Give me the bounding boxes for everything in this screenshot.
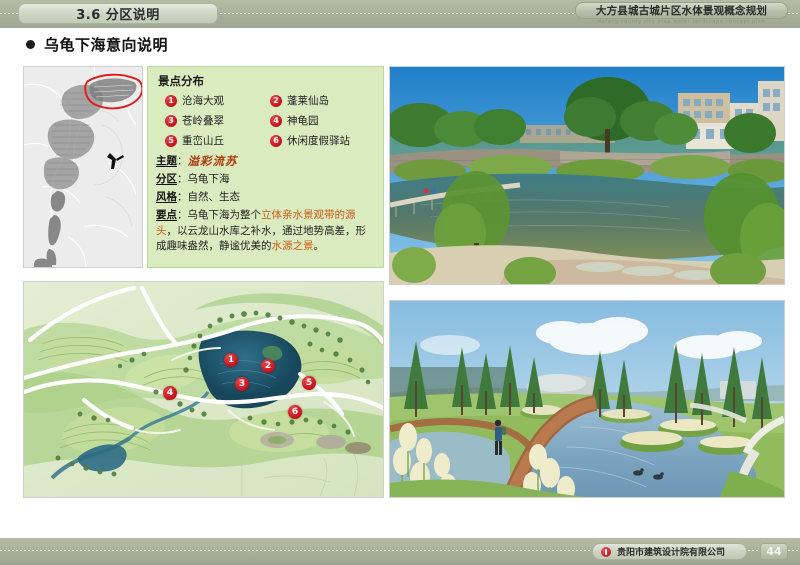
plan-pin-label-4: 4 <box>167 389 173 398</box>
badge-number-6: 6 <box>270 135 282 147</box>
company-name: 贵阳市建筑设计院有限公司 <box>617 545 725 558</box>
plan-pin-label-5: 5 <box>306 379 312 388</box>
plan-pin-label-2: 2 <box>265 362 271 371</box>
attraction-label-1: 沧海大观 <box>182 93 224 108</box>
info-value-theme: 溢彩流苏 <box>188 154 376 169</box>
info-colon-theme: ： <box>177 154 188 169</box>
project-title-label: 大方县城古城片区水体景观概念规划 <box>596 3 767 18</box>
location-map-graphic <box>24 67 143 268</box>
info-value-style: 自然、生态 <box>188 190 376 205</box>
page-title-label: 乌龟下海意向说明 <box>44 34 168 55</box>
info-panel-title: 景点分布 <box>158 73 375 89</box>
master-plan: 1 2 3 4 5 6 <box>23 281 384 498</box>
reference-photo <box>389 66 785 285</box>
keypoint-text-2: ，以云龙山水库之补水，通过地势高差，形成趣味盎然，静谧优美的 <box>156 225 366 253</box>
master-plan-graphic <box>24 282 383 497</box>
badge-number-5: 5 <box>165 135 177 147</box>
list-item: 3 苍岭叠翠 <box>165 113 270 128</box>
bullet-dot-icon <box>26 40 35 49</box>
keypoint-text-1: 乌龟下海为整个 <box>188 209 262 221</box>
info-value-zone: 乌龟下海 <box>188 172 376 187</box>
keypoint-highlight-2: 水源之景 <box>272 240 314 252</box>
company-badge: 贵阳市建筑设计院有限公司 <box>592 543 747 560</box>
location-map <box>23 66 143 268</box>
plan-pin-2: 2 <box>261 359 275 373</box>
info-colon-style: ： <box>177 190 188 205</box>
list-item: 5 重峦山丘 <box>165 133 270 148</box>
project-subtitle: dafang county city area water landscape … <box>575 19 788 25</box>
badge-number-3: 3 <box>165 115 177 127</box>
attraction-label-5: 重峦山丘 <box>182 133 224 148</box>
attraction-list: 1 沧海大观 2 蓬莱仙岛 3 苍岭叠翠 4 神龟园 5 重峦山丘 6 休闲度假… <box>165 93 375 148</box>
page-number: 44 <box>766 545 781 558</box>
plan-pin-6: 6 <box>288 405 302 419</box>
section-tab-label: 3.6 分区说明 <box>76 4 160 23</box>
info-row-style: 风格 ： 自然、生态 <box>156 190 375 205</box>
info-key-theme: 主题 <box>156 154 177 169</box>
attraction-label-4: 神龟园 <box>287 113 319 128</box>
info-row-zone: 分区 ： 乌龟下海 <box>156 172 375 187</box>
badge-number-2: 2 <box>270 95 282 107</box>
info-colon-zone: ： <box>177 172 188 187</box>
badge-number-1: 1 <box>165 95 177 107</box>
attraction-label-6: 休闲度假驿站 <box>287 133 350 148</box>
plan-pin-4: 4 <box>163 386 177 400</box>
company-logo-icon <box>601 547 611 557</box>
info-rows: 主题 ： 溢彩流苏 分区 ： 乌龟下海 风格 ： 自然、生态 要点：乌龟下海为整… <box>156 154 375 255</box>
info-row-keypoint: 要点：乌龟下海为整个立体亲水景观带的源头，以云龙山水库之补水，通过地势高差，形成… <box>156 208 375 255</box>
list-item: 4 神龟园 <box>270 113 375 128</box>
section-tab[interactable]: 3.6 分区说明 <box>18 3 218 24</box>
list-item: 2 蓬莱仙岛 <box>270 93 375 108</box>
plan-pin-5: 5 <box>302 376 316 390</box>
attraction-label-3: 苍岭叠翠 <box>182 113 224 128</box>
keypoint-text-3: 。 <box>314 240 325 252</box>
project-title-tab: 大方县城古城片区水体景观概念规划 <box>575 2 788 19</box>
list-item: 1 沧海大观 <box>165 93 270 108</box>
list-item: 6 休闲度假驿站 <box>270 133 375 148</box>
rendering-graphic <box>390 301 784 497</box>
plan-pin-label-3: 3 <box>239 380 245 389</box>
plan-pin-1: 1 <box>224 353 238 367</box>
page-title: 乌龟下海意向说明 <box>26 34 168 55</box>
info-row-theme: 主题 ： 溢彩流苏 <box>156 154 375 169</box>
plan-pin-label-1: 1 <box>228 356 234 365</box>
info-key-zone: 分区 <box>156 172 177 187</box>
badge-number-4: 4 <box>270 115 282 127</box>
rendering-image <box>389 300 785 498</box>
plan-pin-3: 3 <box>235 377 249 391</box>
attraction-label-2: 蓬莱仙岛 <box>287 93 329 108</box>
page-number-badge: 44 <box>760 543 788 560</box>
info-key-style: 风格 <box>156 190 177 205</box>
plan-pin-label-6: 6 <box>292 408 298 417</box>
reference-photo-graphic <box>390 67 784 284</box>
info-panel: 景点分布 1 沧海大观 2 蓬莱仙岛 3 苍岭叠翠 4 神龟园 5 重峦山丘 6… <box>147 66 384 268</box>
info-colon-keypoint: ： <box>177 209 188 221</box>
info-key-keypoint: 要点 <box>156 209 177 221</box>
